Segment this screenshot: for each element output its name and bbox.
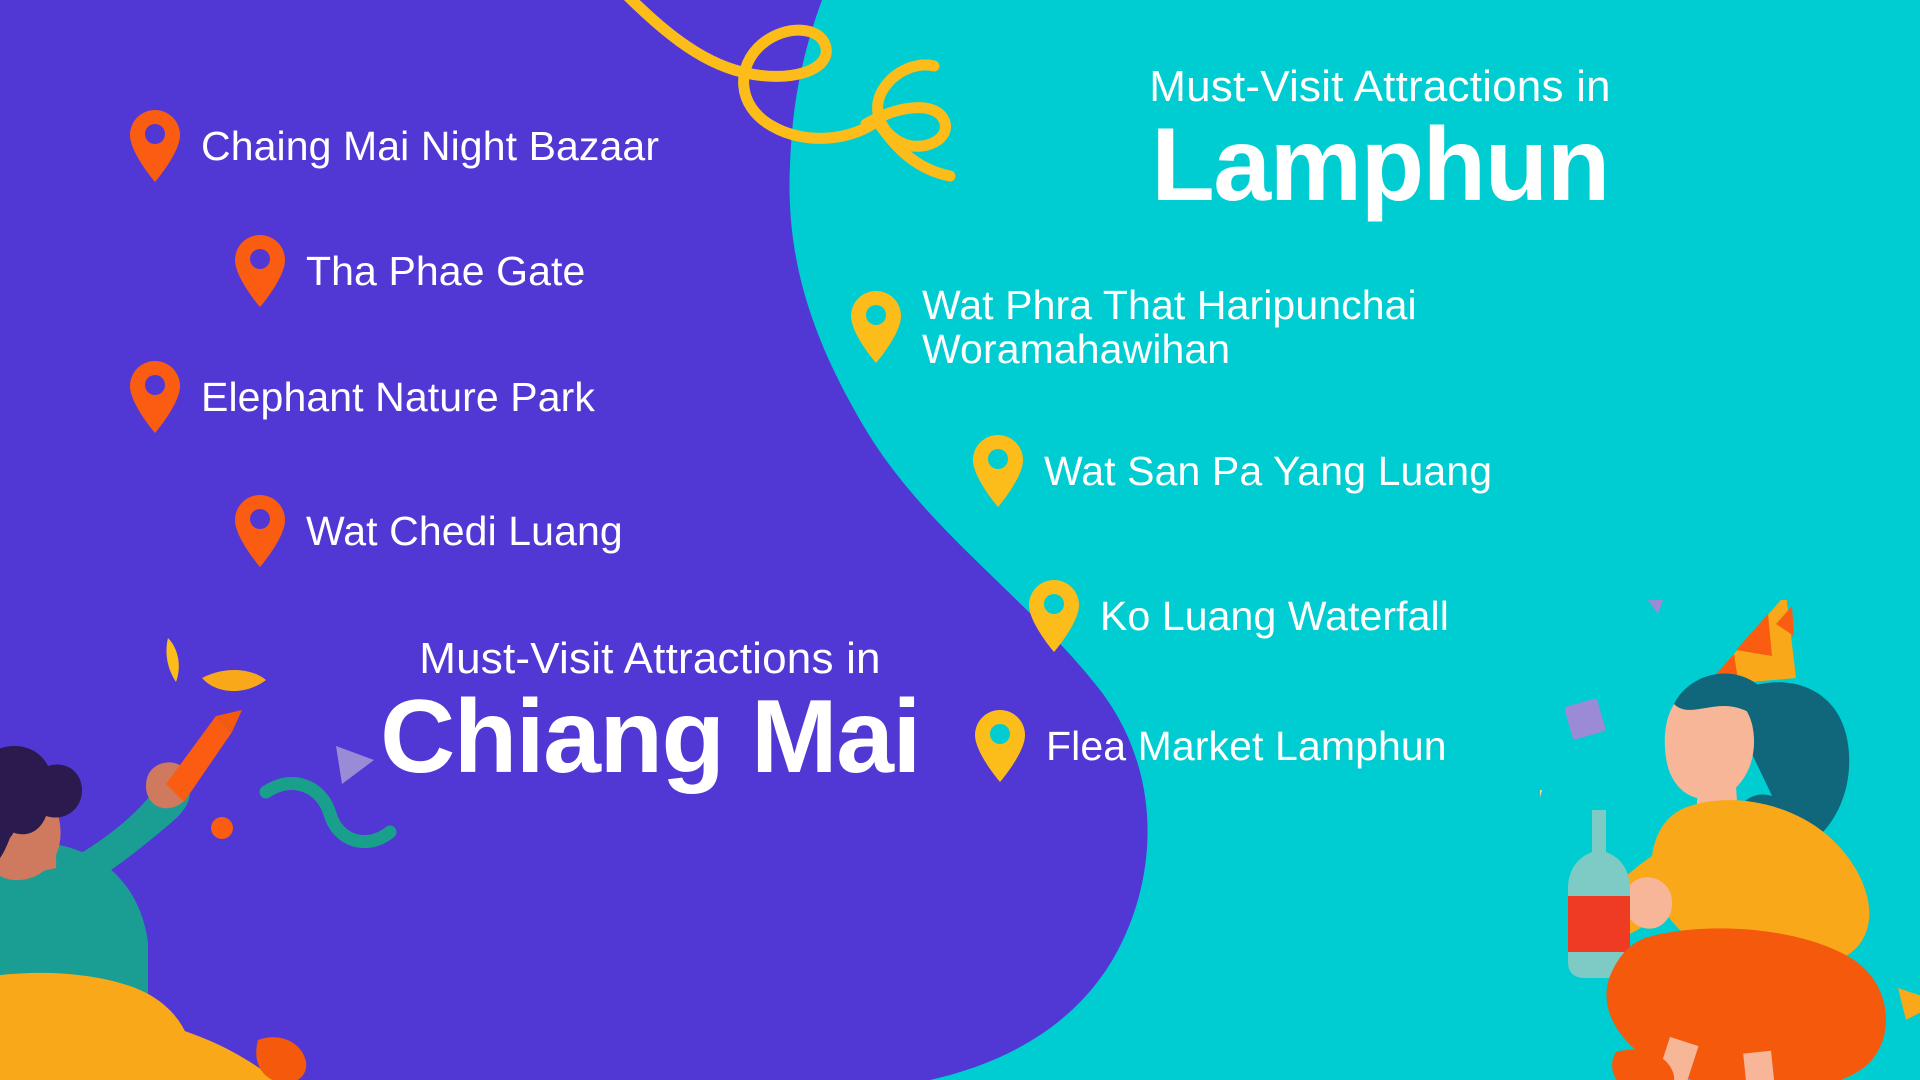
lamphun-title: Lamphun bbox=[900, 111, 1860, 219]
right-character-illustration bbox=[1540, 600, 1920, 1080]
map-pin-icon bbox=[232, 493, 288, 569]
chiang-mai-heading: Must-Visit Attractions in Chiang Mai bbox=[300, 634, 1000, 791]
map-pin-icon bbox=[970, 433, 1026, 509]
list-item-label: Wat Phra That Haripunchai Woramahawihan bbox=[922, 283, 1417, 372]
list-item[interactable]: Wat Chedi Luang bbox=[232, 493, 623, 569]
party-horn bbox=[166, 716, 232, 802]
map-pin-icon bbox=[972, 708, 1028, 784]
infographic-canvas: Chaing Mai Night Bazaar Tha Phae Gate El… bbox=[0, 0, 1920, 1080]
list-item[interactable]: Ko Luang Waterfall bbox=[1026, 578, 1449, 654]
chiang-mai-title: Chiang Mai bbox=[300, 683, 1000, 791]
wine-bottle-label bbox=[1568, 896, 1630, 952]
list-item-label: Elephant Nature Park bbox=[201, 375, 595, 419]
lamphun-heading: Must-Visit Attractions in Lamphun bbox=[900, 62, 1860, 219]
confetti-yellow-curve bbox=[202, 670, 266, 691]
list-item[interactable]: Flea Market Lamphun bbox=[972, 708, 1447, 784]
confetti-yellow-streak bbox=[166, 638, 178, 682]
party-hat-stripe-1 bbox=[1736, 614, 1772, 656]
list-item[interactable]: Wat Phra That Haripunchai Woramahawihan bbox=[848, 283, 1417, 372]
list-item-label: Ko Luang Waterfall bbox=[1100, 594, 1449, 638]
map-pin-icon bbox=[848, 289, 904, 365]
list-item[interactable]: Elephant Nature Park bbox=[127, 359, 595, 435]
wine-glass-bowl bbox=[1540, 790, 1542, 840]
list-item[interactable]: Tha Phae Gate bbox=[232, 233, 585, 309]
list-item[interactable]: Wat San Pa Yang Luang bbox=[970, 433, 1492, 509]
list-item-label: Wat San Pa Yang Luang bbox=[1044, 449, 1492, 493]
map-pin-icon bbox=[1026, 578, 1082, 654]
confetti-yellow-shard bbox=[1898, 988, 1920, 1020]
wine-bottle bbox=[1568, 810, 1630, 978]
confetti-purple-square bbox=[1564, 698, 1606, 740]
list-item[interactable]: Chaing Mai Night Bazaar bbox=[127, 108, 659, 184]
confetti-green-squiggle bbox=[266, 783, 390, 841]
list-item-label: Flea Market Lamphun bbox=[1046, 724, 1447, 768]
confetti-purple-shard bbox=[1648, 600, 1668, 614]
list-item-label: Chaing Mai Night Bazaar bbox=[201, 124, 659, 168]
list-item-label: Tha Phae Gate bbox=[306, 249, 585, 293]
lamphun-kicker: Must-Visit Attractions in bbox=[900, 62, 1860, 111]
list-item-label: Wat Chedi Luang bbox=[306, 509, 623, 553]
chiang-mai-kicker: Must-Visit Attractions in bbox=[300, 634, 1000, 683]
confetti-orange-dot bbox=[211, 817, 233, 839]
map-pin-icon bbox=[232, 233, 288, 309]
map-pin-icon bbox=[127, 108, 183, 184]
map-pin-icon bbox=[127, 359, 183, 435]
